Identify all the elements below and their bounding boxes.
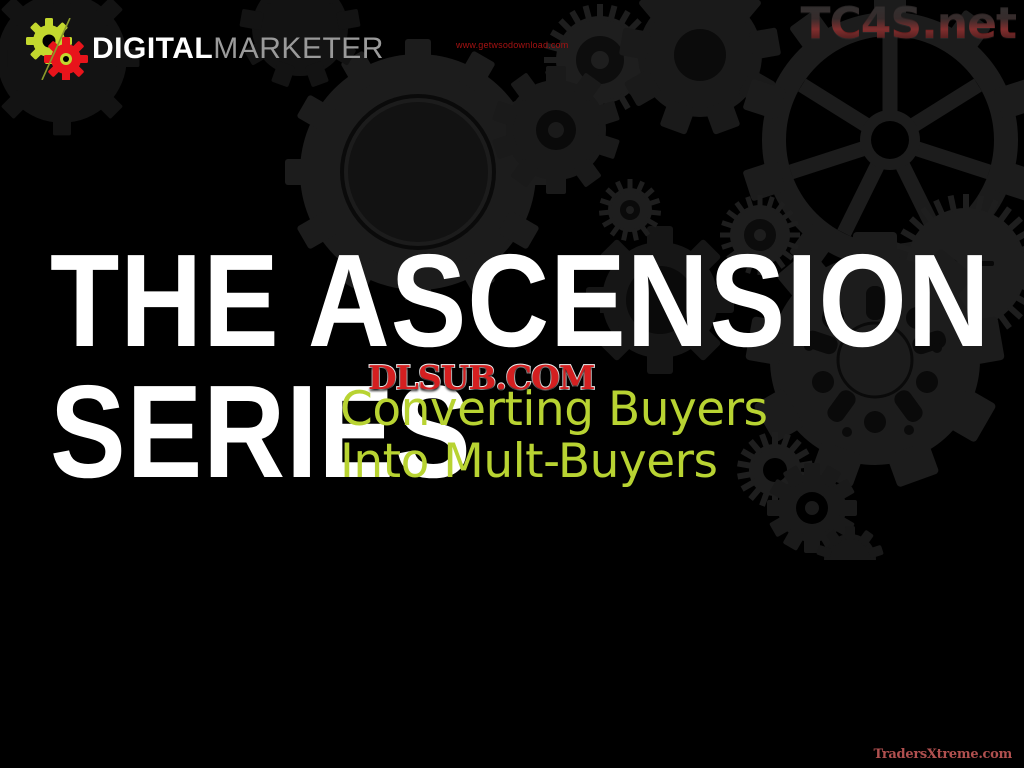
brand-logo: DIGITALMARKETER <box>24 18 384 80</box>
brand-name-bold: DIGITAL <box>92 34 213 64</box>
watermark-tradersxtreme: TradersXtreme.com <box>873 747 1012 762</box>
title-line-1: THE ASCENSION <box>50 236 652 365</box>
presentation-slide: DIGITALMARKETER www.getwsodownload.com T… <box>0 0 1024 768</box>
watermark-top-url: www.getwsodownload.com <box>456 40 568 50</box>
watermark-dlsub: DLSUB.COM <box>368 361 594 394</box>
watermark-tc4s: TC4S.net <box>800 2 1016 46</box>
digitalmarketer-gears-icon <box>24 18 90 80</box>
subtitle-line-2: Into Mult-Buyers <box>340 436 860 488</box>
brand-name-light: MARKETER <box>213 34 384 64</box>
slide-subtitle: Converting Buyers Into Mult-Buyers <box>340 384 860 487</box>
